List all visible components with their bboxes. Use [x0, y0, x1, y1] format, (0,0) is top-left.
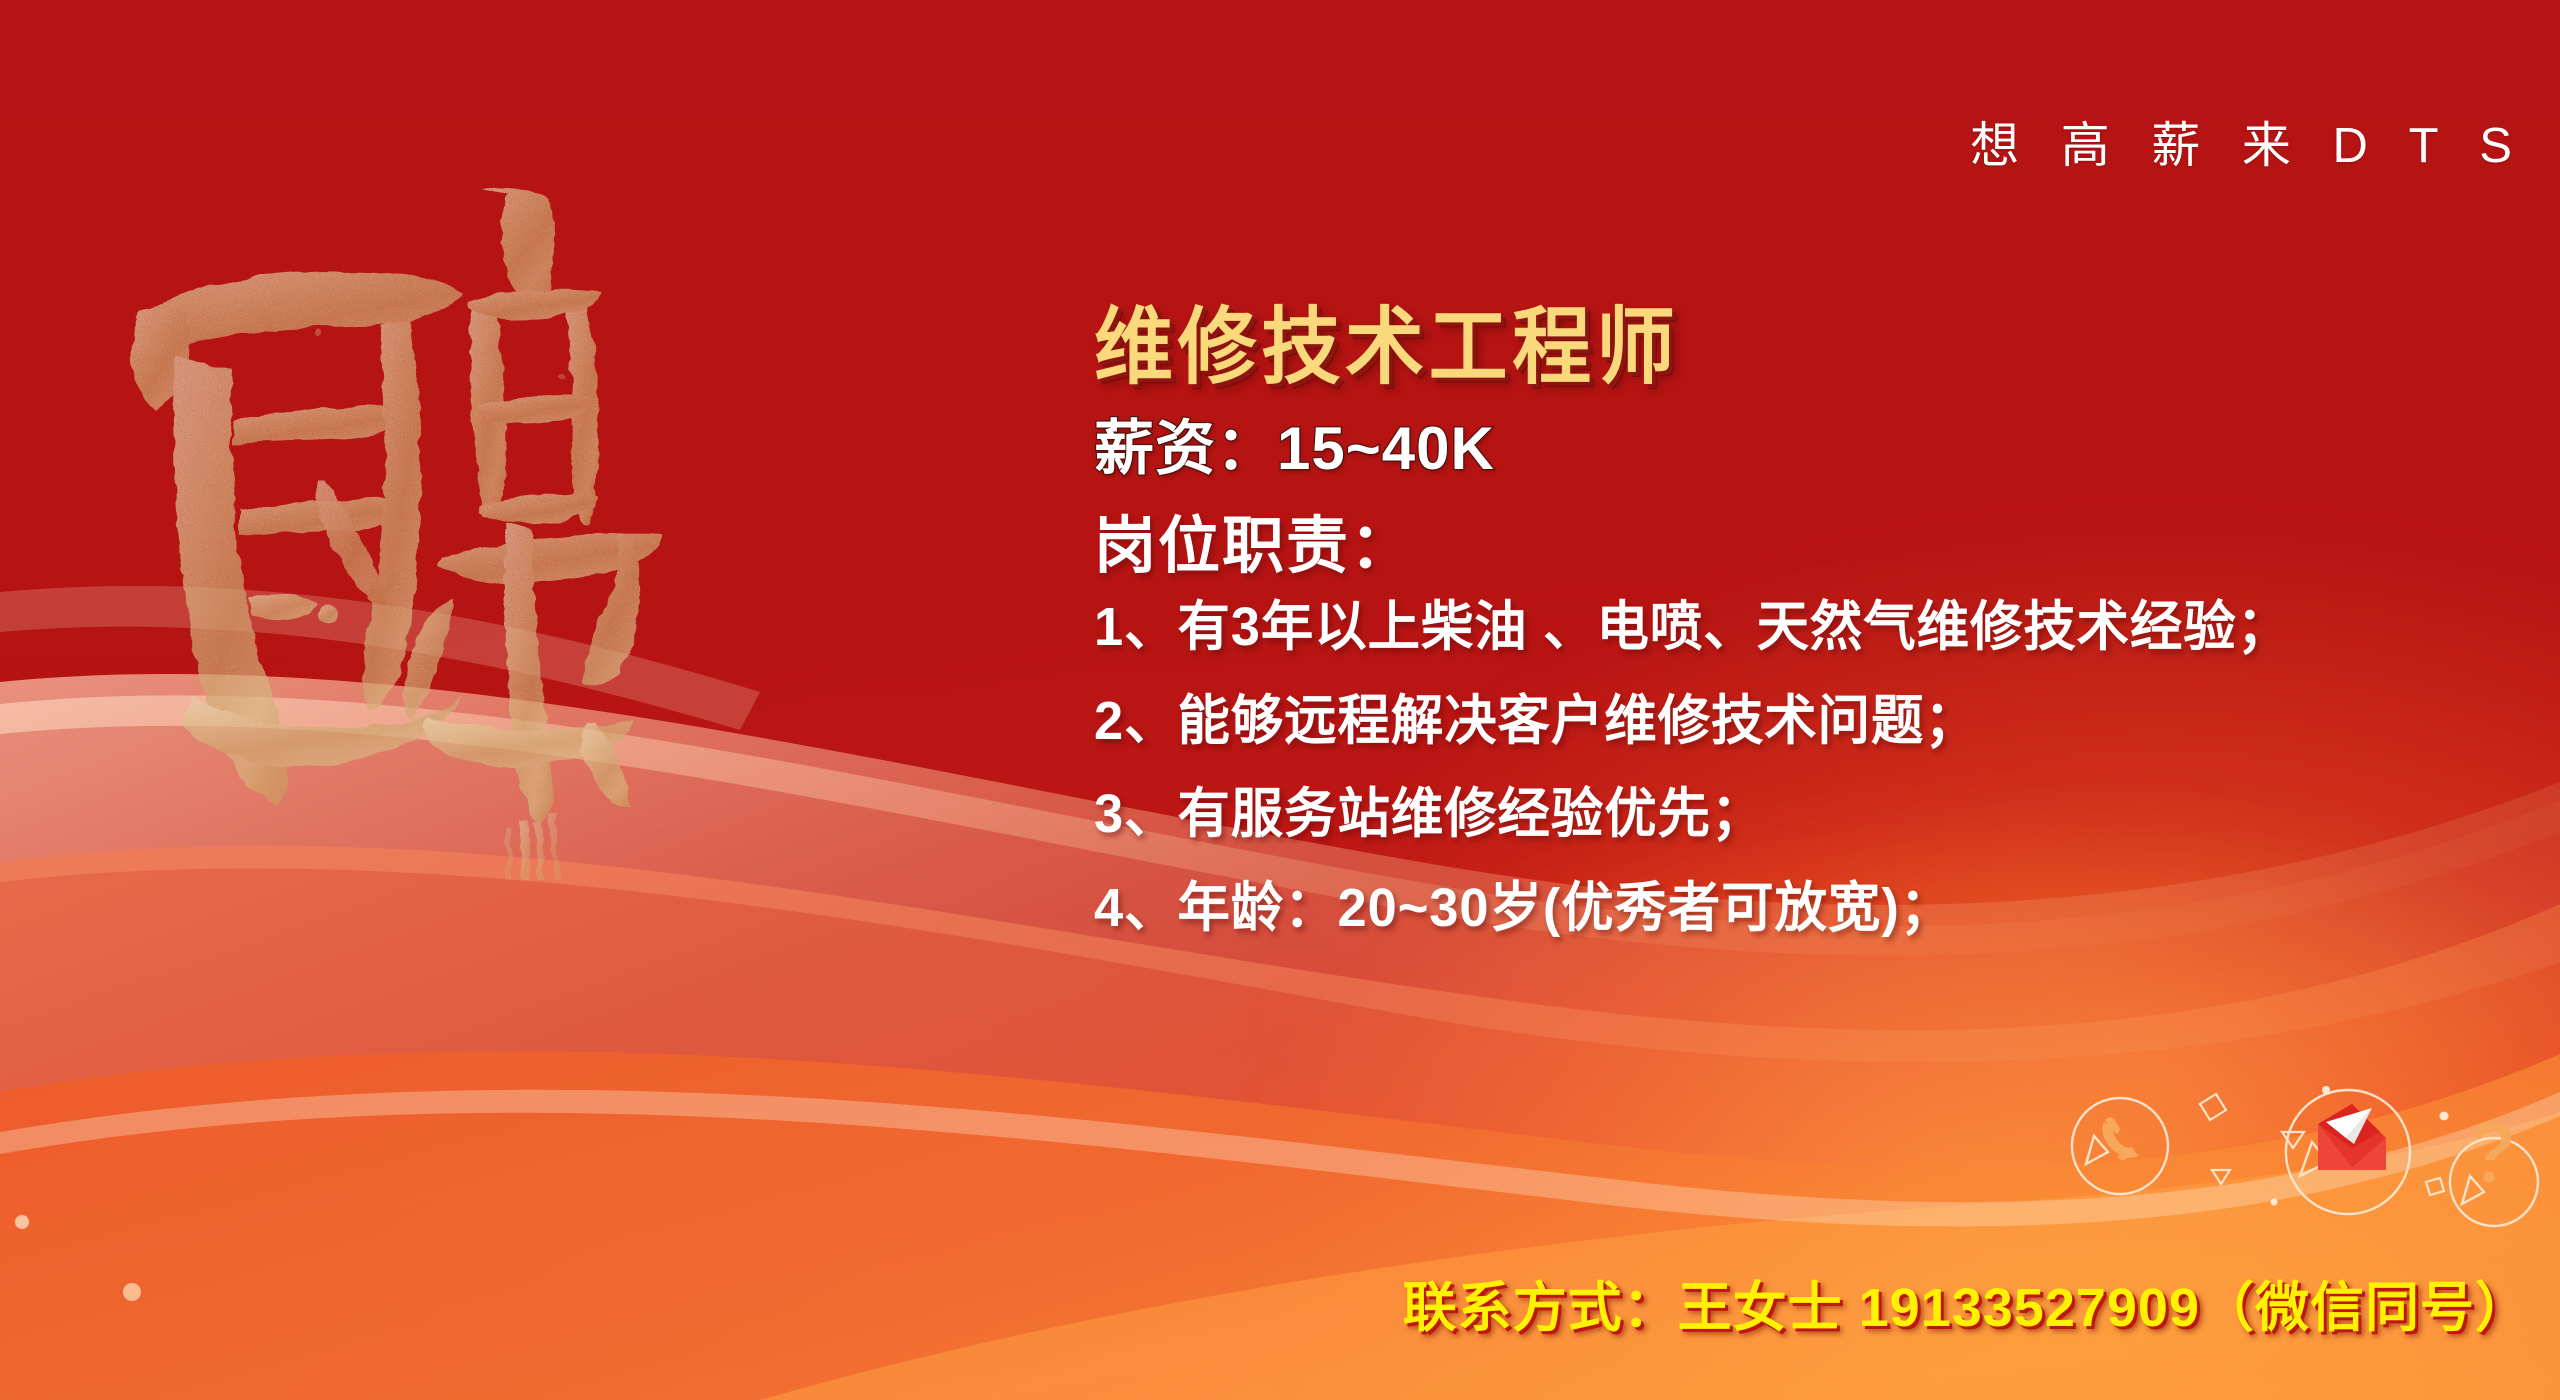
duties-list: 1、有3年以上柴油 、电喷、天然气维修技术经验； 2、能够远程解决客户维修技术问… [1094, 598, 2534, 938]
job-content: 维修技术工程师 薪资：15~40K 岗位职责： 1、有3年以上柴油 、电喷、天然… [1094, 300, 2534, 938]
contact-line: 联系方式：王女士 19133527909（微信同号） [1403, 1279, 2530, 1338]
salary-line: 薪资：15~40K [1094, 414, 2534, 483]
duty-item: 3、有服务站维修经验优先； [1094, 785, 2491, 844]
duty-item: 4、年龄：20~30岁(优秀者可放宽)； [1094, 879, 2491, 938]
duty-item: 1、有3年以上柴油 、电喷、天然气维修技术经验； [1094, 598, 2491, 657]
job-title: 维修技术工程师 [1094, 300, 2448, 394]
recruitment-poster: 想 高 薪 来 D T S 维修技术工程师 薪资：15~40K 岗位职责： 1、… [0, 0, 2560, 1400]
duties-heading: 岗位职责： [1094, 511, 2534, 582]
duty-item: 2、能够远程解决客户维修技术问题； [1094, 692, 2491, 751]
tagline: 想 高 薪 来 D T S [1970, 122, 2526, 171]
